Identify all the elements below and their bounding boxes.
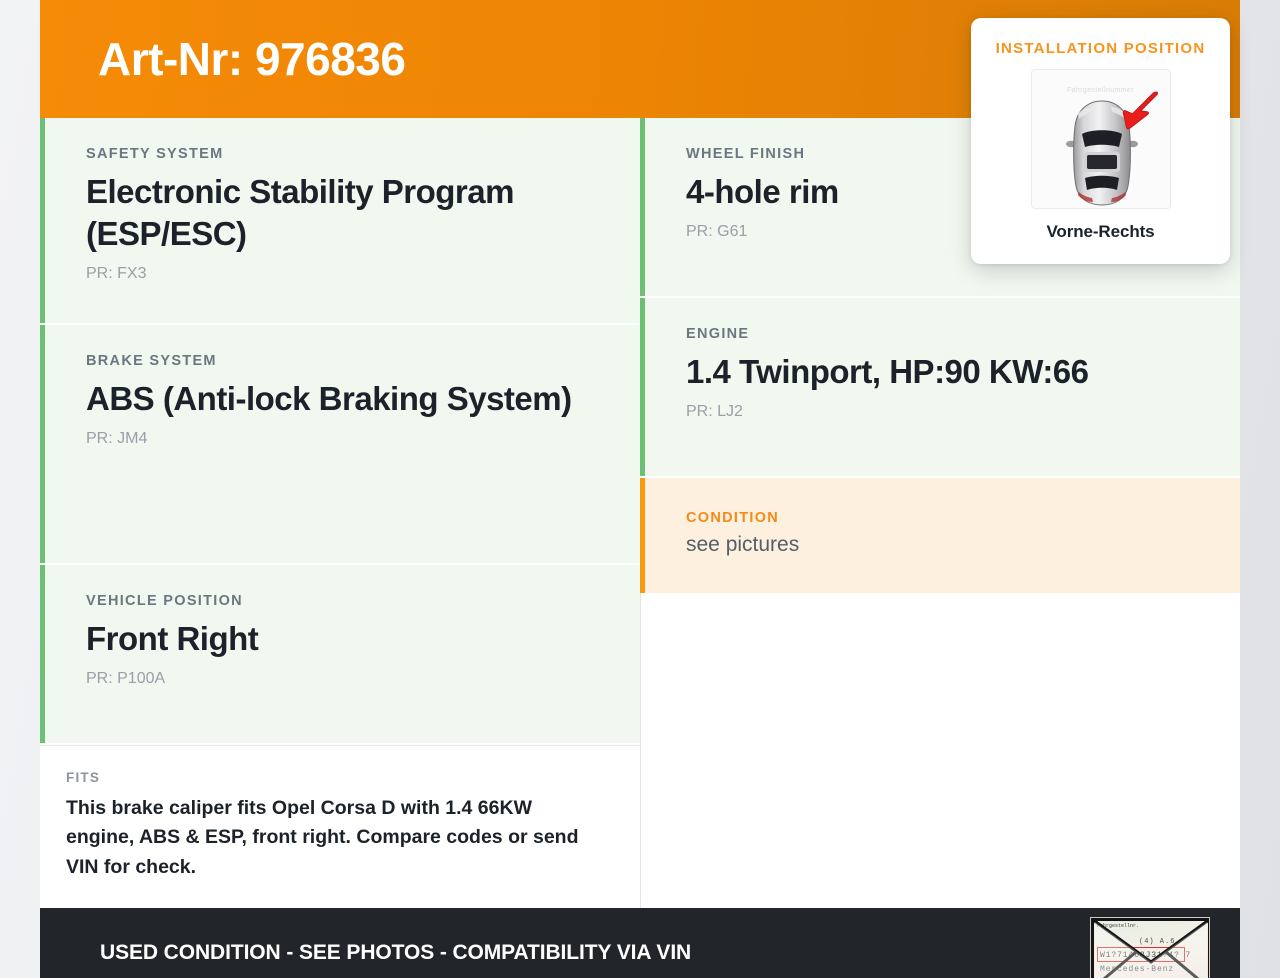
fits-section: FITS This brake caliper fits Opel Corsa … — [40, 745, 640, 908]
footer-text: USED CONDITION - SEE PHOTOS - COMPATIBIL… — [100, 941, 691, 965]
spec-card-engine: ENGINE 1.4 Twinport, HP:90 KW:66 PR: LJ2 — [640, 298, 1240, 478]
installation-position-card[interactable]: INSTALLATION POSITION Fahrgestellnummer — [971, 18, 1230, 264]
spec-value: Electronic Stability Program (ESP/ESC) — [86, 171, 640, 255]
installation-position-caption: Vorne-Rechts — [987, 222, 1214, 242]
condition-card: CONDITION see pictures — [640, 478, 1240, 593]
left-column: SAFETY SYSTEM Electronic Stability Progr… — [40, 118, 640, 908]
spec-value: Front Right — [86, 618, 640, 660]
spec-card-vehicle-position: VEHICLE POSITION Front Right PR: P100A — [40, 565, 640, 745]
footer-bar: USED CONDITION - SEE PHOTOS - COMPATIBIL… — [40, 908, 1240, 978]
spec-code: PR: LJ2 — [686, 403, 1240, 421]
page-root: Art-Nr: 976836 SAFETY SYSTEM Electronic … — [0, 0, 1280, 978]
spec-card-safety-system: SAFETY SYSTEM Electronic Stability Progr… — [40, 118, 640, 325]
spec-code: PR: JM4 — [86, 430, 640, 448]
spec-label: VEHICLE POSITION — [86, 593, 640, 609]
page-title: Art-Nr: 976836 — [98, 36, 405, 82]
condition-value: see pictures — [686, 532, 1240, 559]
spec-label: SAFETY SYSTEM — [86, 146, 640, 162]
fits-text: This brake caliper fits Opel Corsa D wit… — [66, 794, 600, 882]
spec-code: PR: FX3 — [86, 265, 640, 283]
spec-label: BRAKE SYSTEM — [86, 353, 640, 369]
envelope-outline-icon — [1091, 918, 1210, 978]
installation-position-image: Fahrgestellnummer — [1031, 69, 1171, 209]
right-column-filler — [640, 593, 1240, 908]
envelope-icon: Fahrgestellnr. (4) A.6 W1?71463J31?4? 7 … — [1090, 917, 1210, 978]
spec-label: ENGINE — [686, 326, 1240, 342]
installation-position-title: INSTALLATION POSITION — [987, 40, 1214, 57]
spec-code: PR: P100A — [86, 670, 640, 688]
fits-label: FITS — [66, 770, 600, 785]
condition-label: CONDITION — [686, 510, 1240, 526]
red-arrow-icon — [1116, 90, 1160, 134]
spec-value: ABS (Anti-lock Braking System) — [86, 378, 640, 420]
spec-value: 1.4 Twinport, HP:90 KW:66 — [686, 351, 1240, 393]
spec-card-brake-system: BRAKE SYSTEM ABS (Anti-lock Braking Syst… — [40, 325, 640, 565]
